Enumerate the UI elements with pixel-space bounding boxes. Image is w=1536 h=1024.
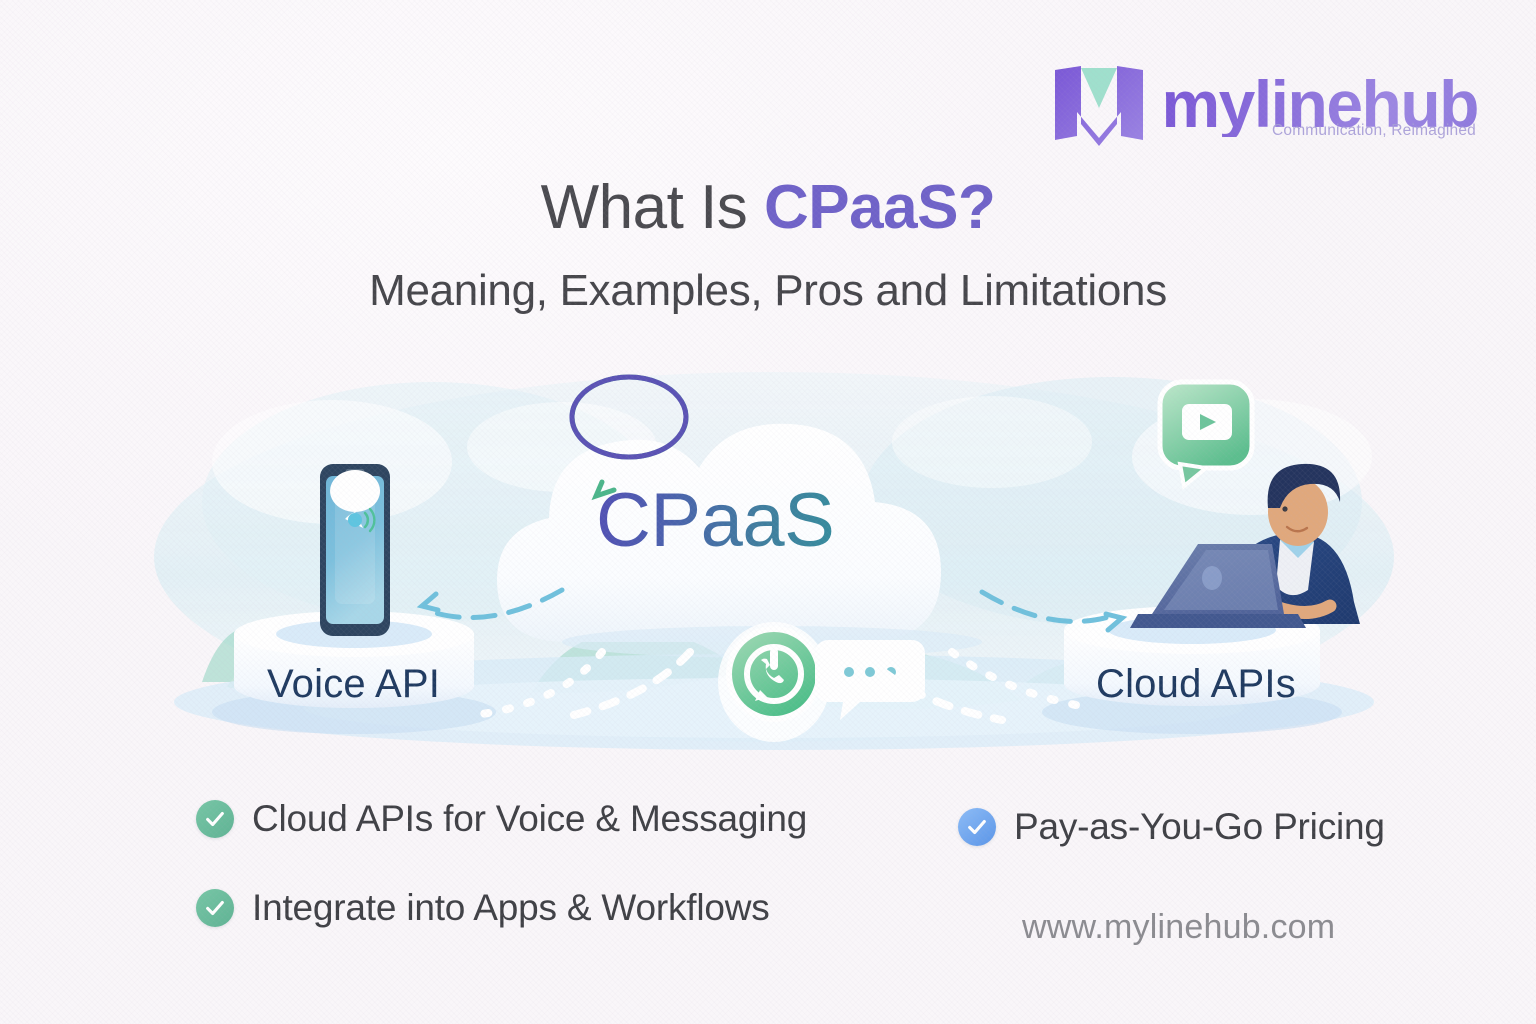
benefits-list-left: Cloud APIs for Voice & Messaging Integra… [196,798,807,929]
cloud-label: CPaaS [596,477,834,564]
whatsapp-icon [718,622,830,742]
list-item-label: Pay-as-You-Go Pricing [1014,806,1385,848]
page-title: What Is CPaaS? [0,172,1536,243]
cloud-apis-label: Cloud APIs [1096,662,1296,707]
list-item: Pay-as-You-Go Pricing [958,806,1385,848]
website-url[interactable]: www.mylinehub.com [1022,908,1335,947]
benefits-list-right: Pay-as-You-Go Pricing [958,806,1385,848]
page-subtitle: Meaning, Examples, Pros and Limitations [0,266,1536,316]
title-accent: CPaaS? [764,173,995,242]
smartphone-icon [320,464,390,636]
list-item: Cloud APIs for Voice & Messaging [196,798,807,840]
list-item-label: Cloud APIs for Voice & Messaging [252,798,807,840]
list-item-label: Integrate into Apps & Workflows [252,887,770,929]
voice-api-label: Voice API [267,662,440,707]
title-prefix: What Is [541,173,764,242]
list-item: Integrate into Apps & Workflows [196,887,807,929]
m-monogram-icon [1051,62,1147,148]
brand-tagline: Communication, Reimagined [1272,122,1476,140]
check-circle-icon [958,808,996,846]
check-circle-icon [196,800,234,838]
check-circle-icon [196,889,234,927]
infographic-canvas: mylinehub Communication, Reimagined What… [0,0,1536,1024]
brand-logo[interactable]: mylinehub Communication, Reimagined [1051,62,1478,148]
